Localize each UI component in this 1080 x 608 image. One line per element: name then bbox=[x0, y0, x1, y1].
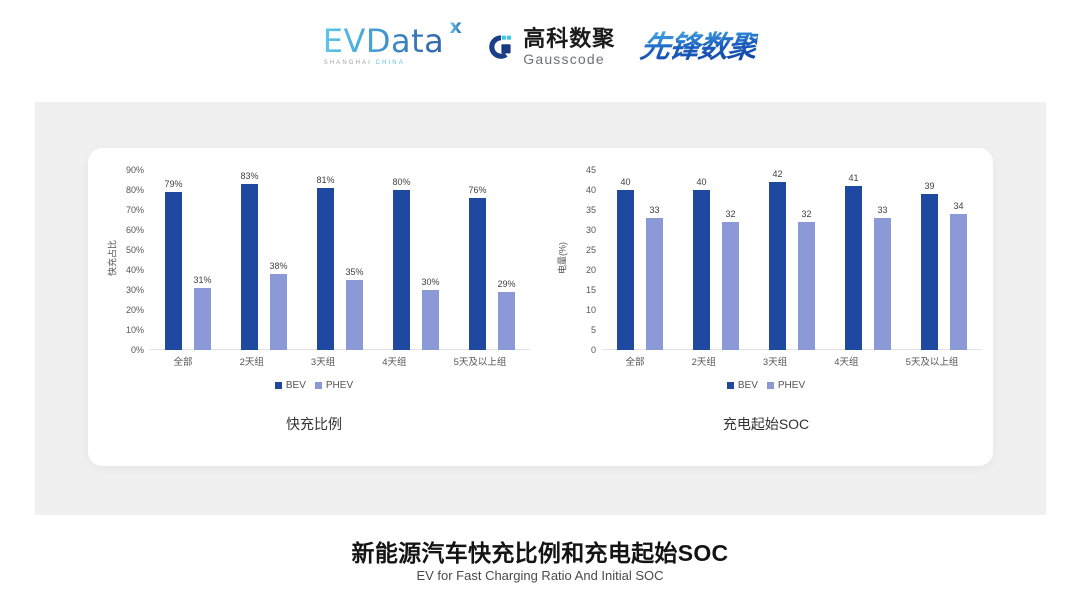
gausscode-logo: 高科数聚 Gausscode bbox=[486, 28, 615, 66]
bar-group: 4232 bbox=[769, 170, 815, 350]
bar-value-label: 76% bbox=[468, 185, 486, 195]
y-axis-tick-label: 50% bbox=[110, 245, 144, 255]
x-axis-tick-label: 2天组 bbox=[692, 354, 716, 368]
chart-caption: 快充比例 bbox=[88, 414, 540, 434]
bar-value-label: 31% bbox=[193, 275, 211, 285]
bar-group: 4133 bbox=[845, 170, 891, 350]
legend-swatch-icon bbox=[767, 382, 774, 389]
chart-fast-charging-ratio: 快充占比90%80%70%60%50%40%30%20%10%0%79%31%8… bbox=[88, 148, 540, 466]
bar-phev[interactable]: 31% bbox=[194, 170, 211, 350]
bar-phev[interactable]: 34 bbox=[950, 170, 967, 350]
chart-plot-area: 快充占比90%80%70%60%50%40%30%20%10%0%79%31%8… bbox=[88, 158, 540, 408]
bar-value-label: 41 bbox=[848, 173, 858, 183]
bar-value-label: 40 bbox=[696, 177, 706, 187]
y-axis-tick-label: 45 bbox=[562, 165, 596, 175]
bar-value-label: 32 bbox=[725, 209, 735, 219]
bar-phev[interactable]: 32 bbox=[798, 170, 815, 350]
legend-label: PHEV bbox=[326, 380, 353, 391]
bar-bev[interactable]: 76% bbox=[469, 170, 486, 350]
evdata-wordmark: EVDatax bbox=[323, 25, 461, 57]
bar-rect[interactable] bbox=[722, 222, 739, 350]
y-axis-tick-label: 10% bbox=[110, 325, 144, 335]
bar-value-label: 33 bbox=[649, 205, 659, 215]
bar-rect[interactable] bbox=[270, 274, 287, 350]
bar-value-label: 40 bbox=[620, 177, 630, 187]
bar-phev[interactable]: 35% bbox=[346, 170, 363, 350]
bar-value-label: 80% bbox=[392, 177, 410, 187]
evdata-x-icon: x bbox=[449, 18, 462, 37]
bar-value-label: 83% bbox=[240, 171, 258, 181]
bar-group: 4033 bbox=[617, 170, 663, 350]
page-subtitle: EV for Fast Charging Ratio And Initial S… bbox=[0, 568, 1080, 583]
x-axis-ticks: 全部2天组3天组4天组5天及以上组 bbox=[602, 354, 982, 368]
bar-group: 76%29% bbox=[469, 170, 515, 350]
bar-rect[interactable] bbox=[498, 292, 515, 350]
y-axis-ticks: 90%80%70%60%50%40%30%20%10%0% bbox=[110, 170, 144, 350]
bar-value-label: 35% bbox=[345, 267, 363, 277]
x-axis-tick-label: 全部 bbox=[174, 354, 193, 368]
y-axis-tick-label: 10 bbox=[562, 305, 596, 315]
bar-groups: 79%31%83%38%81%35%80%30%76%29% bbox=[150, 170, 530, 350]
bar-bev[interactable]: 79% bbox=[165, 170, 182, 350]
bars-plot: 40334032423241333934 bbox=[602, 170, 982, 350]
bar-group: 81%35% bbox=[317, 170, 363, 350]
y-axis-tick-label: 15 bbox=[562, 285, 596, 295]
chart-caption: 充电起始SOC bbox=[540, 414, 992, 434]
bar-rect[interactable] bbox=[194, 288, 211, 350]
y-axis-tick-label: 90% bbox=[110, 165, 144, 175]
legend-item-bev[interactable]: BEV bbox=[275, 380, 306, 391]
bars-plot: 79%31%83%38%81%35%80%30%76%29% bbox=[150, 170, 530, 350]
bar-rect[interactable] bbox=[950, 214, 967, 350]
x-axis-tick-label: 5天及以上组 bbox=[454, 354, 507, 368]
gausscode-c-mark-icon bbox=[486, 32, 516, 62]
bar-rect[interactable] bbox=[845, 186, 862, 350]
x-axis-tick-label: 全部 bbox=[626, 354, 645, 368]
bar-value-label: 79% bbox=[164, 179, 182, 189]
evdata-tagline: SHANGHAI CHINA bbox=[324, 60, 405, 66]
charts-row: 快充占比90%80%70%60%50%40%30%20%10%0%79%31%8… bbox=[88, 148, 993, 466]
bar-rect[interactable] bbox=[769, 182, 786, 350]
y-axis-tick-label: 0% bbox=[110, 345, 144, 355]
y-axis-ticks: 454035302520151050 bbox=[562, 170, 596, 350]
bar-groups: 40334032423241333934 bbox=[602, 170, 982, 350]
bar-group: 83%38% bbox=[241, 170, 287, 350]
bar-value-label: 81% bbox=[316, 175, 334, 185]
gausscode-cn-name: 高科数聚 bbox=[523, 28, 615, 50]
x-axis-tick-label: 4天组 bbox=[834, 354, 858, 368]
bar-group: 4032 bbox=[693, 170, 739, 350]
bar-rect[interactable] bbox=[393, 190, 410, 350]
bar-rect[interactable] bbox=[646, 218, 663, 350]
bar-rect[interactable] bbox=[874, 218, 891, 350]
y-axis-tick-label: 25 bbox=[562, 245, 596, 255]
bar-value-label: 33 bbox=[877, 205, 887, 215]
bar-rect[interactable] bbox=[921, 194, 938, 350]
bar-rect[interactable] bbox=[317, 188, 334, 350]
bar-phev[interactable]: 32 bbox=[722, 170, 739, 350]
y-axis-tick-label: 35 bbox=[562, 205, 596, 215]
legend-label: BEV bbox=[738, 380, 758, 391]
bar-phev[interactable]: 38% bbox=[270, 170, 287, 350]
chart-initial-soc: 电量(%)45403530252015105040334032423241333… bbox=[540, 148, 992, 466]
page-title: 新能源汽车快充比例和充电起始SOC bbox=[0, 534, 1080, 568]
legend-swatch-icon bbox=[727, 382, 734, 389]
evdata-tagline-country: CHINA bbox=[376, 60, 405, 66]
bar-phev[interactable]: 30% bbox=[422, 170, 439, 350]
chart-card: 快充占比90%80%70%60%50%40%30%20%10%0%79%31%8… bbox=[88, 148, 993, 466]
y-axis-tick-label: 30% bbox=[110, 285, 144, 295]
legend-label: PHEV bbox=[778, 380, 805, 391]
x-axis-ticks: 全部2天组3天组4天组5天及以上组 bbox=[150, 354, 530, 368]
bar-value-label: 32 bbox=[801, 209, 811, 219]
x-axis-tick-label: 3天组 bbox=[763, 354, 787, 368]
bar-phev[interactable]: 33 bbox=[646, 170, 663, 350]
chart-legend: BEVPHEV bbox=[88, 380, 540, 391]
y-axis-tick-label: 5 bbox=[562, 325, 596, 335]
bar-group: 3934 bbox=[921, 170, 967, 350]
logo-bar: EVDatax SHANGHAI CHINA 高科数聚 Gausscode 先锋… bbox=[0, 22, 1080, 66]
bar-value-label: 34 bbox=[953, 201, 963, 211]
bar-value-label: 42 bbox=[772, 169, 782, 179]
legend-item-phev[interactable]: PHEV bbox=[767, 380, 805, 391]
y-axis-tick-label: 70% bbox=[110, 205, 144, 215]
bar-bev[interactable]: 40 bbox=[617, 170, 634, 350]
bar-group: 80%30% bbox=[393, 170, 439, 350]
y-axis-tick-label: 30 bbox=[562, 225, 596, 235]
legend-swatch-icon bbox=[315, 382, 322, 389]
bar-bev[interactable]: 42 bbox=[769, 170, 786, 350]
legend-swatch-icon bbox=[275, 382, 282, 389]
x-axis-tick-label: 3天组 bbox=[311, 354, 335, 368]
bar-rect[interactable] bbox=[469, 198, 486, 350]
x-axis-tick-label: 2天组 bbox=[240, 354, 264, 368]
evdata-tagline-city: SHANGHAI bbox=[324, 60, 376, 66]
gausscode-en-name: Gausscode bbox=[523, 52, 615, 66]
bar-rect[interactable] bbox=[693, 190, 710, 350]
bar-value-label: 39 bbox=[924, 181, 934, 191]
bar-rect[interactable] bbox=[798, 222, 815, 350]
evdata-logo: EVDatax SHANGHAI CHINA bbox=[323, 25, 461, 66]
bar-value-label: 29% bbox=[497, 279, 515, 289]
y-axis-tick-label: 60% bbox=[110, 225, 144, 235]
bar-phev[interactable]: 33 bbox=[874, 170, 891, 350]
bar-rect[interactable] bbox=[422, 290, 439, 350]
legend-item-bev[interactable]: BEV bbox=[727, 380, 758, 391]
bar-bev[interactable]: 83% bbox=[241, 170, 258, 350]
bar-bev[interactable]: 81% bbox=[317, 170, 334, 350]
chart-plot-area: 电量(%)45403530252015105040334032423241333… bbox=[540, 158, 992, 408]
y-axis-tick-label: 20 bbox=[562, 265, 596, 275]
y-axis-tick-label: 20% bbox=[110, 305, 144, 315]
bar-bev[interactable]: 39 bbox=[921, 170, 938, 350]
y-axis-tick-label: 40 bbox=[562, 185, 596, 195]
bar-rect[interactable] bbox=[346, 280, 363, 350]
x-axis-tick-label: 5天及以上组 bbox=[906, 354, 959, 368]
bar-rect[interactable] bbox=[617, 190, 634, 350]
x-axis-tick-label: 4天组 bbox=[382, 354, 406, 368]
bar-rect[interactable] bbox=[241, 184, 258, 350]
y-axis-tick-label: 80% bbox=[110, 185, 144, 195]
bar-bev[interactable]: 41 bbox=[845, 170, 862, 350]
xianfeng-logo: 先锋数聚 bbox=[638, 22, 760, 66]
bar-phev[interactable]: 29% bbox=[498, 170, 515, 350]
y-axis-tick-label: 0 bbox=[562, 345, 596, 355]
legend-item-phev[interactable]: PHEV bbox=[315, 380, 353, 391]
legend-label: BEV bbox=[286, 380, 306, 391]
bar-bev[interactable]: 80% bbox=[393, 170, 410, 350]
slide-page: EVDatax SHANGHAI CHINA 高科数聚 Gausscode 先锋… bbox=[0, 0, 1080, 608]
bar-bev[interactable]: 40 bbox=[693, 170, 710, 350]
bar-rect[interactable] bbox=[165, 192, 182, 350]
chart-legend: BEVPHEV bbox=[540, 380, 992, 391]
bar-value-label: 30% bbox=[421, 277, 439, 287]
bar-group: 79%31% bbox=[165, 170, 211, 350]
bar-value-label: 38% bbox=[269, 261, 287, 271]
y-axis-tick-label: 40% bbox=[110, 265, 144, 275]
